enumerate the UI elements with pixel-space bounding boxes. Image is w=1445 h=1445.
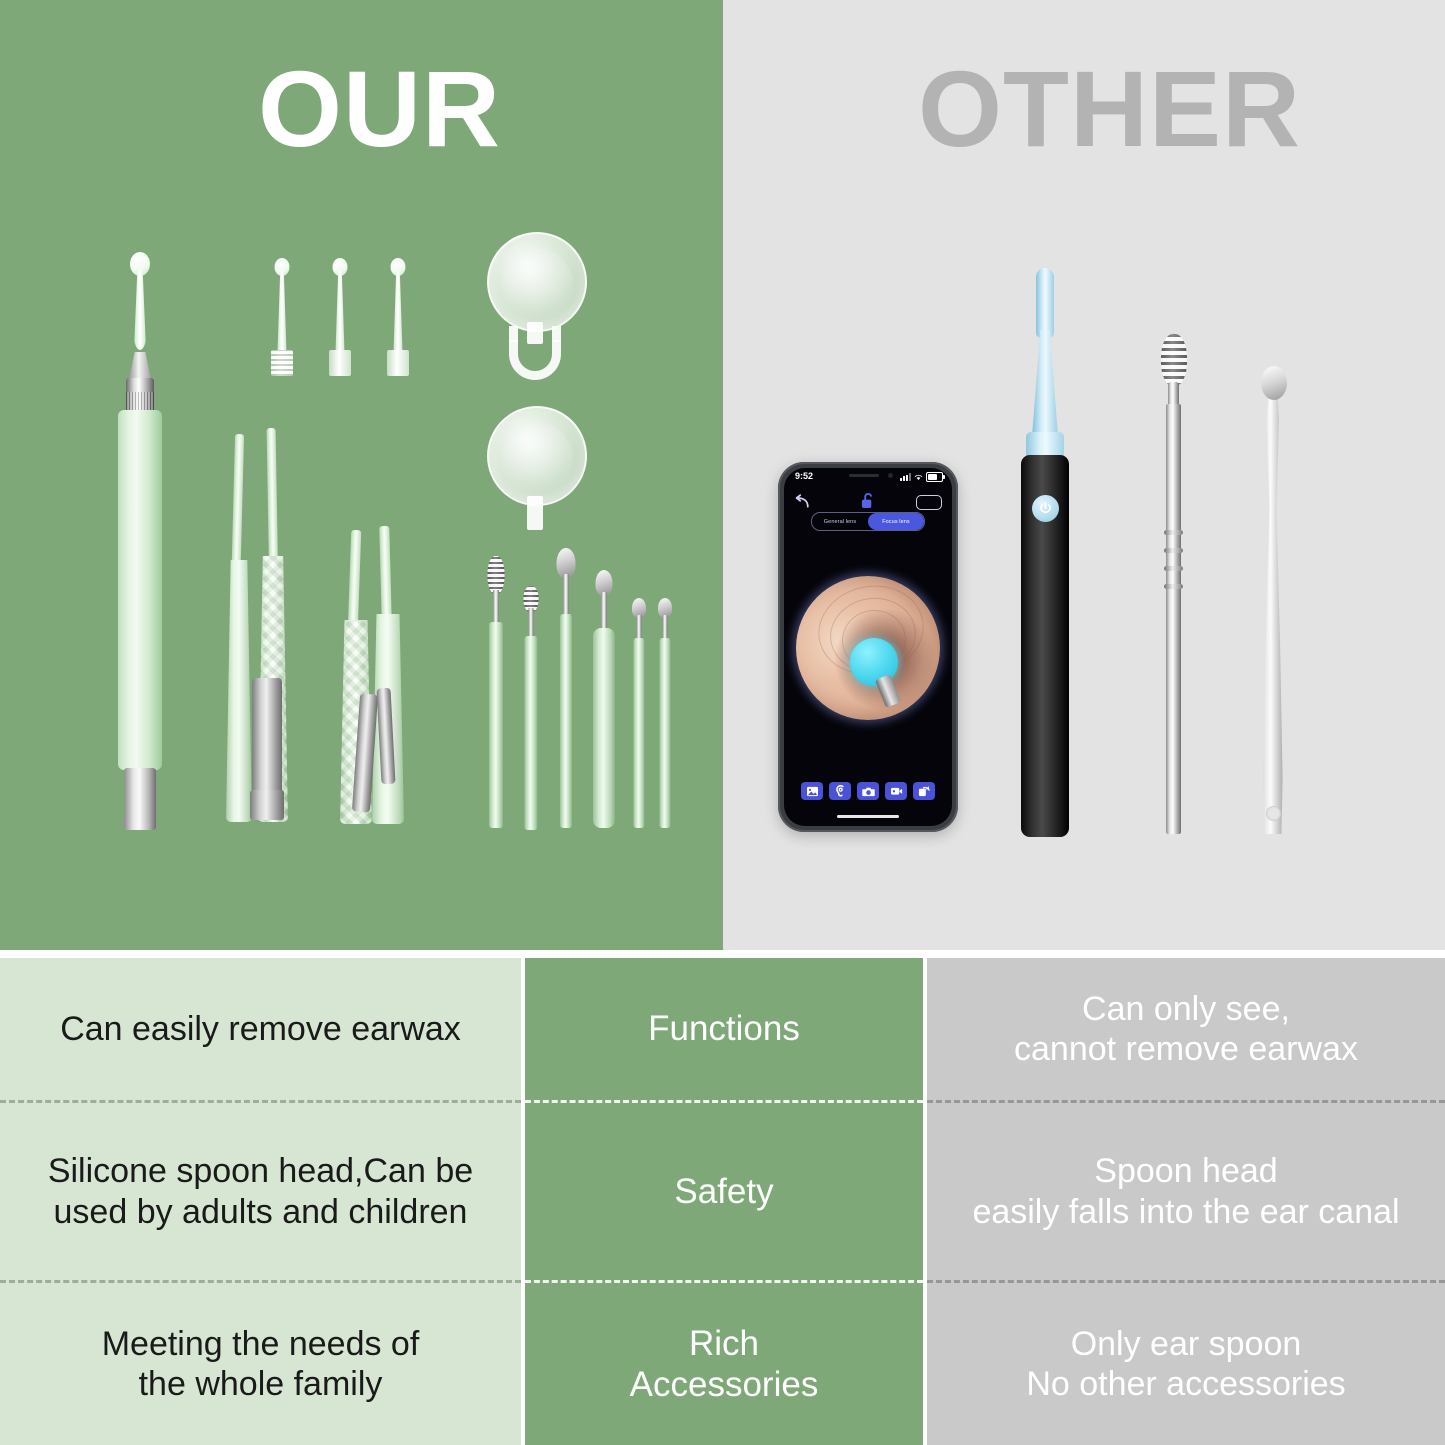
our-cell-3: Meeting the needs ofthe whole family [0,1283,521,1445]
competitor-silicone-tip [1036,268,1054,338]
spoon-metal-rod [875,674,901,708]
spare-tip-2 [328,258,352,378]
pick-handle [634,638,645,828]
pick-rod [493,590,499,626]
video-icon[interactable] [885,782,907,800]
camera-icon[interactable] [857,782,879,800]
feature-cell-3: RichAccessories [525,1283,923,1445]
pick-handle-wide [593,628,615,828]
spare-tip-1 [270,258,294,378]
wifi-icon [914,473,923,481]
pick-rod [563,574,569,618]
pick-rod [601,592,607,632]
ear-canal-otoscope-view [796,576,940,720]
home-indicator [837,815,899,818]
tweezer-metal-insert [252,678,282,798]
metal-pick-spoon-medium [590,570,618,828]
back-arrow-icon[interactable] [794,494,812,510]
battery-icon [926,472,943,482]
pick-coil-tip [488,556,505,594]
main-device-body [118,410,162,770]
steel-pick-ring [1164,548,1183,553]
phone-status-bar: 9:52 [784,471,952,485]
ear-icon[interactable] [829,782,851,800]
comparison-table: Can easily remove earwax Functions Can o… [0,958,1445,1445]
spare-tip-3 [386,258,410,378]
metal-pick-spoon-small-2 [654,598,676,828]
tip-stem [336,271,345,353]
steel-pick-shaft [1166,404,1181,834]
our-cell-2: Silicone spoon head,Can beused by adults… [0,1103,521,1280]
tip-base [387,350,409,376]
tip-base [329,350,351,376]
status-time: 9:52 [795,471,813,481]
other-cell-2: Spoon headeasily falls into the ear cana… [927,1103,1445,1280]
curette-hanging-hole [1266,806,1281,821]
metal-pick-spoon-large [553,548,579,828]
suction-cup-holder-1 [487,232,587,332]
cup-inner [501,249,572,320]
tweezer-metal-base [250,790,284,820]
hero-section: OUR OTHER [0,0,1445,950]
curette-spoon-head [1261,366,1287,400]
our-cell-1: Can easily remove earwax [0,958,521,1100]
cup-inner [501,423,572,494]
feature-cell-1: Functions [525,958,923,1100]
pick-handle [560,614,572,828]
rotate-screen-icon[interactable] [913,782,935,800]
comparison-infographic: OUR OTHER [0,0,1445,1445]
device-bottom-cap [124,768,156,830]
segment-focus-lens[interactable]: Focus lens [868,513,924,530]
pick-rod [529,608,534,638]
gallery-icon[interactable] [801,782,823,800]
power-icon [1038,501,1053,516]
other-cell-3: Only ear spoonNo other accessories [927,1283,1445,1445]
device-metal-collar [126,378,154,412]
metal-pick-coil-large [483,556,509,828]
signal-icon [900,473,911,481]
competitor-phone: 9:52 [778,462,958,832]
holder-2-stem [527,496,543,530]
steel-spiral-tip [1161,334,1187,386]
main-device-silicone-tip [131,252,149,356]
page-title-other: OTHER [918,55,1301,163]
pick-handle [660,638,671,828]
status-indicators [900,472,943,482]
app-toolbar [784,778,952,804]
device-battery-icon [916,495,942,510]
power-button[interactable] [1032,495,1059,522]
tip-stem [278,271,287,353]
tip-stem [394,271,403,353]
metal-pick-coil-small [519,586,543,828]
steel-pick-ring [1164,584,1183,589]
phone-screen: 9:52 [784,468,952,826]
unlock-icon[interactable] [861,492,876,510]
page-title-our: OUR [258,55,501,163]
tip-base [271,350,293,376]
suction-cup-holder-2 [487,406,587,506]
segment-general-lens[interactable]: General lens [812,513,868,530]
steel-pick-ring [1164,530,1183,535]
steel-pick-ring [1164,566,1183,571]
lens-mode-segmented-control[interactable]: General lens Focus lens [811,512,925,531]
other-cell-1: Can only see,cannot remove earwax [927,958,1445,1100]
tip-stem [134,270,146,350]
metal-pick-spoon-small-1 [628,598,650,828]
pick-handle [489,622,503,828]
pick-handle [525,636,538,830]
feature-cell-2: Safety [525,1103,923,1280]
